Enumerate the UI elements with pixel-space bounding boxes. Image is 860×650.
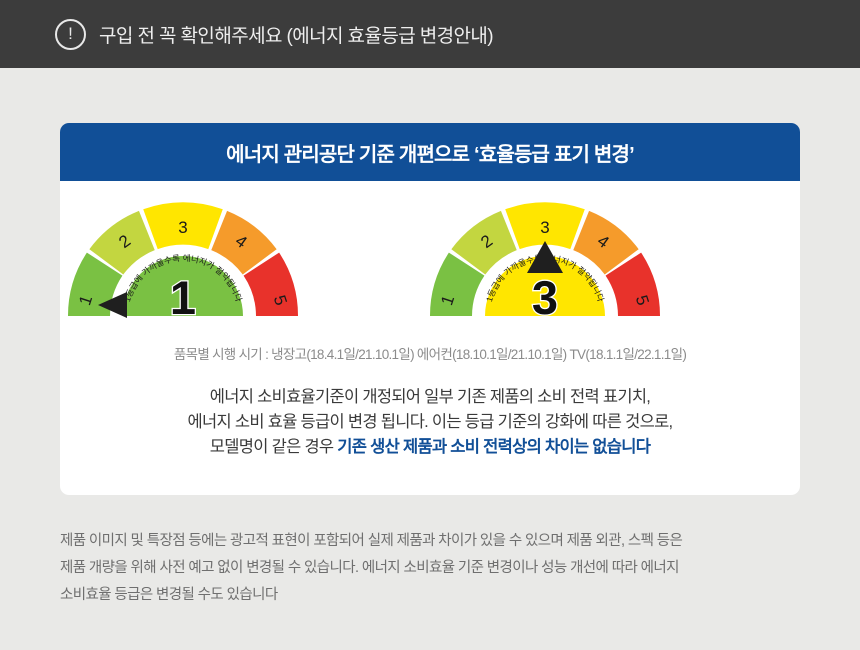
before-gauge: 1 2 3 4 5 1등급에 가까울수록 에너지가 절약됩니다 1 <box>65 201 301 323</box>
grade-number: 1 <box>170 271 196 323</box>
body-line-2: 에너지 소비 효율 등급이 변경 됩니다. 이는 등급 기준의 강화에 따른 것… <box>60 410 800 435</box>
after-gauge-svg: 1 2 3 4 5 1등급에 가까울수록 에너지가 절약됩니다 3 <box>427 201 663 323</box>
exclamation-mark: ! <box>68 25 73 42</box>
footer-line-1: 제품 이미지 및 특장점 등에는 광고적 표현이 포함되어 실제 제품과 차이가… <box>60 528 800 555</box>
exclamation-circle-icon: ! <box>55 19 86 50</box>
card-title: 에너지 관리공단 기준 개편으로 ‘효율등급 표기 변경’ <box>226 138 634 167</box>
body-line-3-plain: 모델명이 같은 경우 <box>210 438 338 456</box>
grade-number: 3 <box>532 271 558 323</box>
notice-card: 에너지 관리공단 기준 개편으로 ‘효율등급 표기 변경’ 1 <box>60 123 800 495</box>
body-copy: 에너지 소비효율기준이 개정되어 일부 기존 제품의 소비 전력 표기치, 에너… <box>60 385 800 460</box>
page-title: 구입 전 꼭 확인해주세요 (에너지 효율등급 변경안내) <box>99 21 493 48</box>
gauge-label-3: 3 <box>540 218 549 237</box>
gauge-label-3: 3 <box>178 218 187 237</box>
before-gauge-svg: 1 2 3 4 5 1등급에 가까울수록 에너지가 절약됩니다 1 <box>65 201 301 323</box>
body-line-1: 에너지 소비효율기준이 개정되어 일부 기존 제품의 소비 전력 표기치, <box>60 385 800 410</box>
schedule-note: 품목별 시행 시기 : 냉장고(18.4.1일/21.10.1일) 에어컨(18… <box>60 343 800 363</box>
body-line-3: 모델명이 같은 경우 기존 생산 제품과 소비 전력상의 차이는 없습니다 <box>60 435 800 460</box>
after-gauge: 1 2 3 4 5 1등급에 가까울수록 에너지가 절약됩니다 3 <box>427 201 663 323</box>
footer-line-3: 소비효율 등급은 변경될 수도 있습니다 <box>60 582 800 609</box>
card-title-bar: 에너지 관리공단 기준 개편으로 ‘효율등급 표기 변경’ <box>60 123 800 181</box>
gauge-comparison: 1 2 3 4 5 1등급에 가까울수록 에너지가 절약됩니다 1 <box>60 181 800 341</box>
body-line-3-highlight: 기존 생산 제품과 소비 전력상의 차이는 없습니다 <box>337 438 650 456</box>
footer-disclaimer: 제품 이미지 및 특장점 등에는 광고적 표현이 포함되어 실제 제품과 차이가… <box>60 528 800 609</box>
footer-line-2: 제품 개량을 위해 사전 예고 없이 변경될 수 있습니다. 에너지 소비효율 … <box>60 555 800 582</box>
page-header: ! 구입 전 꼭 확인해주세요 (에너지 효율등급 변경안내) <box>0 0 860 68</box>
